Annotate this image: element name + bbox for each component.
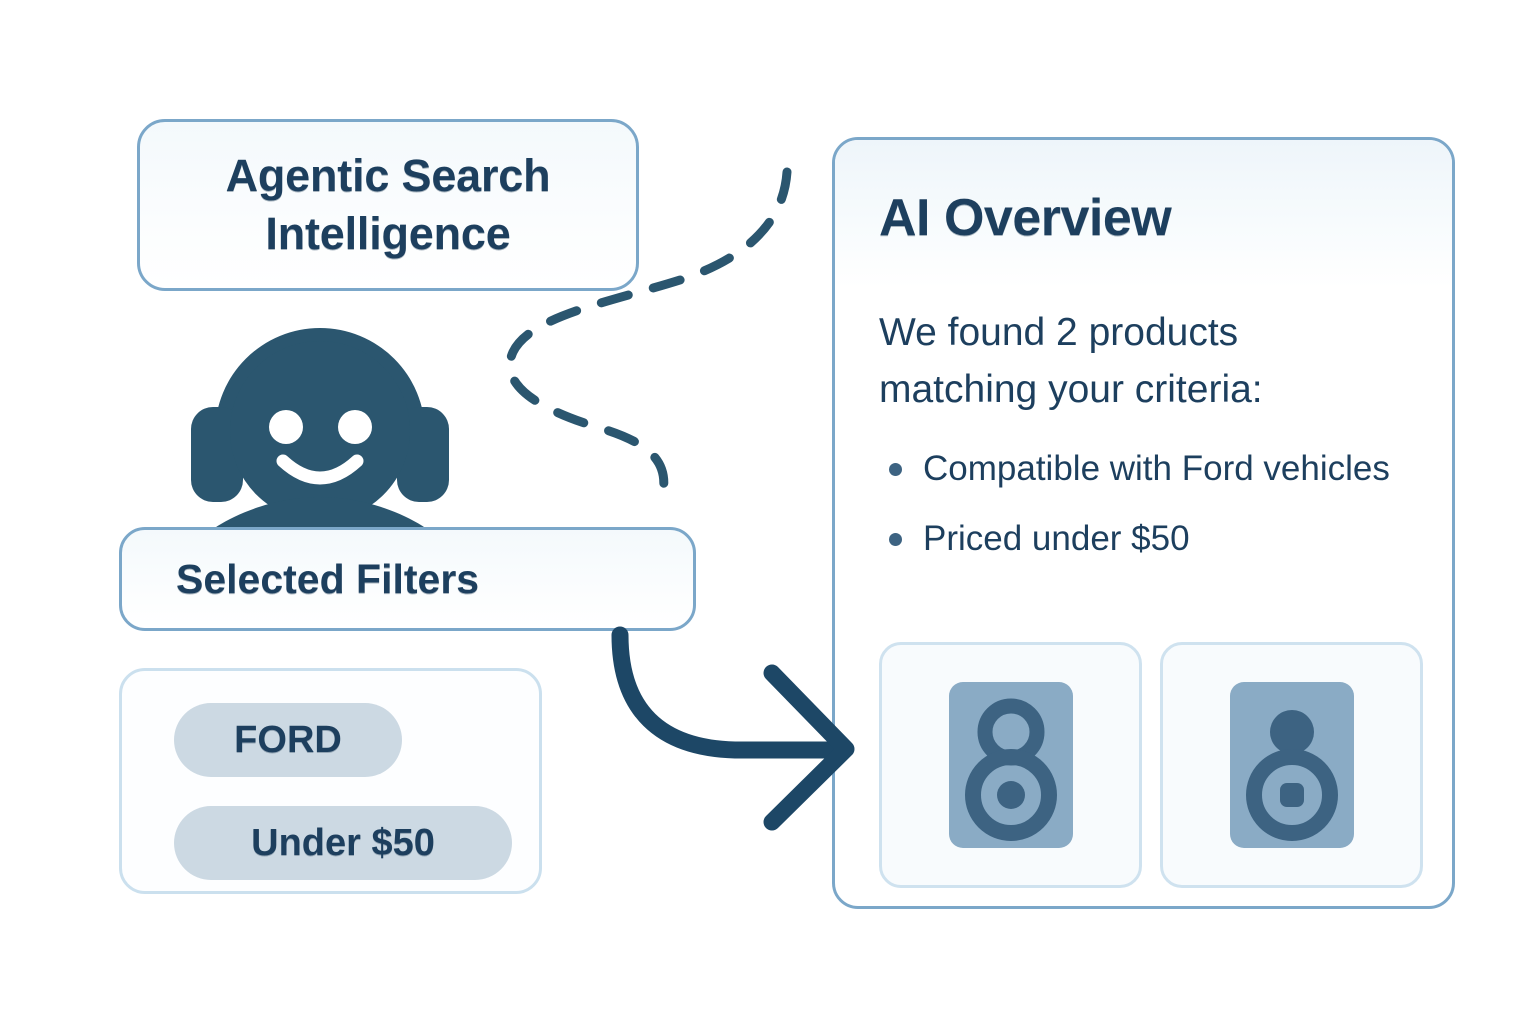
product-results-grid <box>879 642 1424 888</box>
bullet-dot-icon <box>889 533 902 546</box>
title-card: Agentic Search Intelligence <box>137 119 639 291</box>
selected-filters-card: Selected Filters <box>119 527 696 631</box>
speaker-icon <box>949 682 1073 848</box>
list-item: Compatible with Ford vehicles <box>879 445 1399 493</box>
avatar-eye-right <box>338 410 372 444</box>
filter-chip-ford[interactable]: FORD <box>174 703 402 777</box>
diagram-canvas: Agentic Search Intelligence Selected Fil… <box>0 0 1536 1024</box>
selected-filters-heading: Selected Filters <box>122 556 479 603</box>
ai-overview-panel: AI Overview We found 2 products matching… <box>832 137 1455 909</box>
criteria-label: Compatible with Ford vehicles <box>923 449 1390 488</box>
filter-chip-ford-label: FORD <box>234 719 342 762</box>
speaker-icon <box>1230 682 1354 848</box>
ai-overview-criteria-list: Compatible with Ford vehicles Priced und… <box>879 445 1399 586</box>
bullet-dot-icon <box>889 463 902 476</box>
filter-chips-container: FORD Under $50 <box>119 668 542 894</box>
filter-chip-price-label: Under $50 <box>251 822 435 865</box>
ai-overview-heading: AI Overview <box>879 188 1171 248</box>
product-card[interactable] <box>1160 642 1423 888</box>
title-line-2: Intelligence <box>265 208 510 259</box>
criteria-label: Priced under $50 <box>923 519 1190 558</box>
ai-overview-summary: We found 2 products matching your criter… <box>879 305 1389 418</box>
agent-headset-avatar-icon <box>175 283 465 543</box>
product-card[interactable] <box>879 642 1142 888</box>
title-line-1: Agentic Search <box>226 150 551 201</box>
filter-chip-price[interactable]: Under $50 <box>174 806 512 880</box>
list-item: Priced under $50 <box>879 515 1399 563</box>
page-title: Agentic Search Intelligence <box>210 147 567 264</box>
avatar-eye-left <box>269 410 303 444</box>
